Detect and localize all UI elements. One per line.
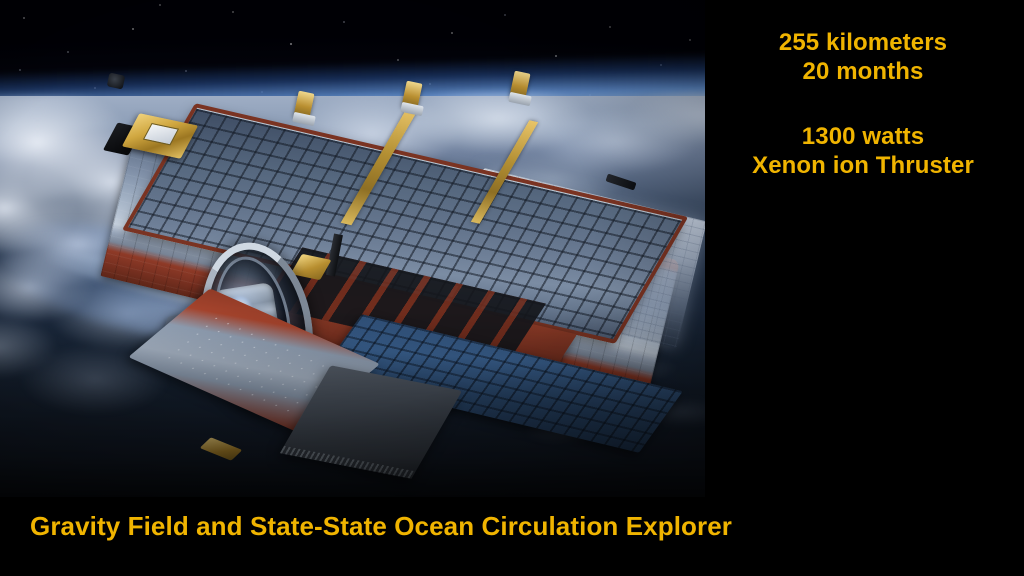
slide-caption: Gravity Field and State-State Ocean Circ…	[30, 511, 732, 542]
stat-power: 1300 watts	[728, 122, 998, 151]
satellite-photo	[0, 0, 705, 497]
stats-block-propulsion: 1300 watts Xenon ion Thruster	[728, 122, 998, 181]
slide-root: 255 kilometers 20 months 1300 watts Xeno…	[0, 0, 1024, 576]
stat-altitude: 255 kilometers	[728, 28, 998, 57]
stat-thruster: Xenon ion Thruster	[728, 151, 998, 180]
stat-duration: 20 months	[728, 57, 998, 86]
photo-vignette	[0, 0, 705, 497]
stats-block-orbit: 255 kilometers 20 months	[728, 28, 998, 87]
